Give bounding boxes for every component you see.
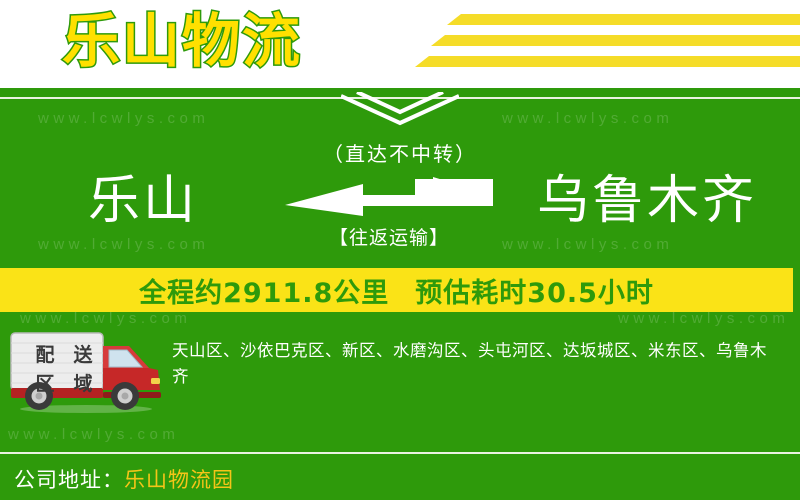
decorative-stripes [415, 12, 800, 74]
delivery-truck-icon [8, 330, 163, 415]
distance-value: 全程约2911.8公里 [139, 278, 389, 309]
watermark: www.lcwlys.com [618, 310, 789, 327]
stripe-2 [431, 35, 800, 46]
banner-header: 乐山物流 [0, 0, 800, 88]
watermark: www.lcwlys.com [502, 110, 673, 127]
distance-summary: 全程约2911.8公里预估耗时30.5小时 [139, 271, 654, 310]
divider-bottom [0, 452, 800, 454]
direct-shipping-label: （直达不中转） [0, 138, 800, 167]
delivery-areas-text: 天山区、沙依巴克区、新区、水磨沟区、头屯河区、达坂城区、米东区、乌鲁木齐 [172, 338, 782, 390]
duration-value: 预估耗时30.5小时 [415, 278, 654, 309]
banner-footer: 公司地址： 乐山物流园 [0, 458, 800, 500]
address-label: 公司地址： [14, 464, 124, 494]
roundtrip-label: 【往返运输】 [285, 223, 493, 250]
distance-band: 全程约2911.8公里预估耗时30.5小时 [0, 268, 793, 312]
stripe-3 [415, 56, 800, 67]
logistics-banner: 乐山物流 www.lcwlys.com www.lcwlys.com www.l… [0, 0, 800, 500]
watermark: www.lcwlys.com [38, 110, 209, 127]
destination-city: 乌鲁木齐 [537, 165, 757, 237]
route-row: 乐山 【往返运输】 乌鲁木齐 [0, 165, 800, 255]
chevron-down-icon [341, 92, 459, 126]
address-value: 乐山物流园 [124, 464, 234, 494]
origin-city: 乐山 [88, 165, 198, 237]
company-logo-text: 乐山物流 [62, 6, 302, 76]
watermark: www.lcwlys.com [8, 426, 179, 443]
stripe-1 [447, 14, 800, 25]
watermark: www.lcwlys.com [20, 310, 191, 327]
